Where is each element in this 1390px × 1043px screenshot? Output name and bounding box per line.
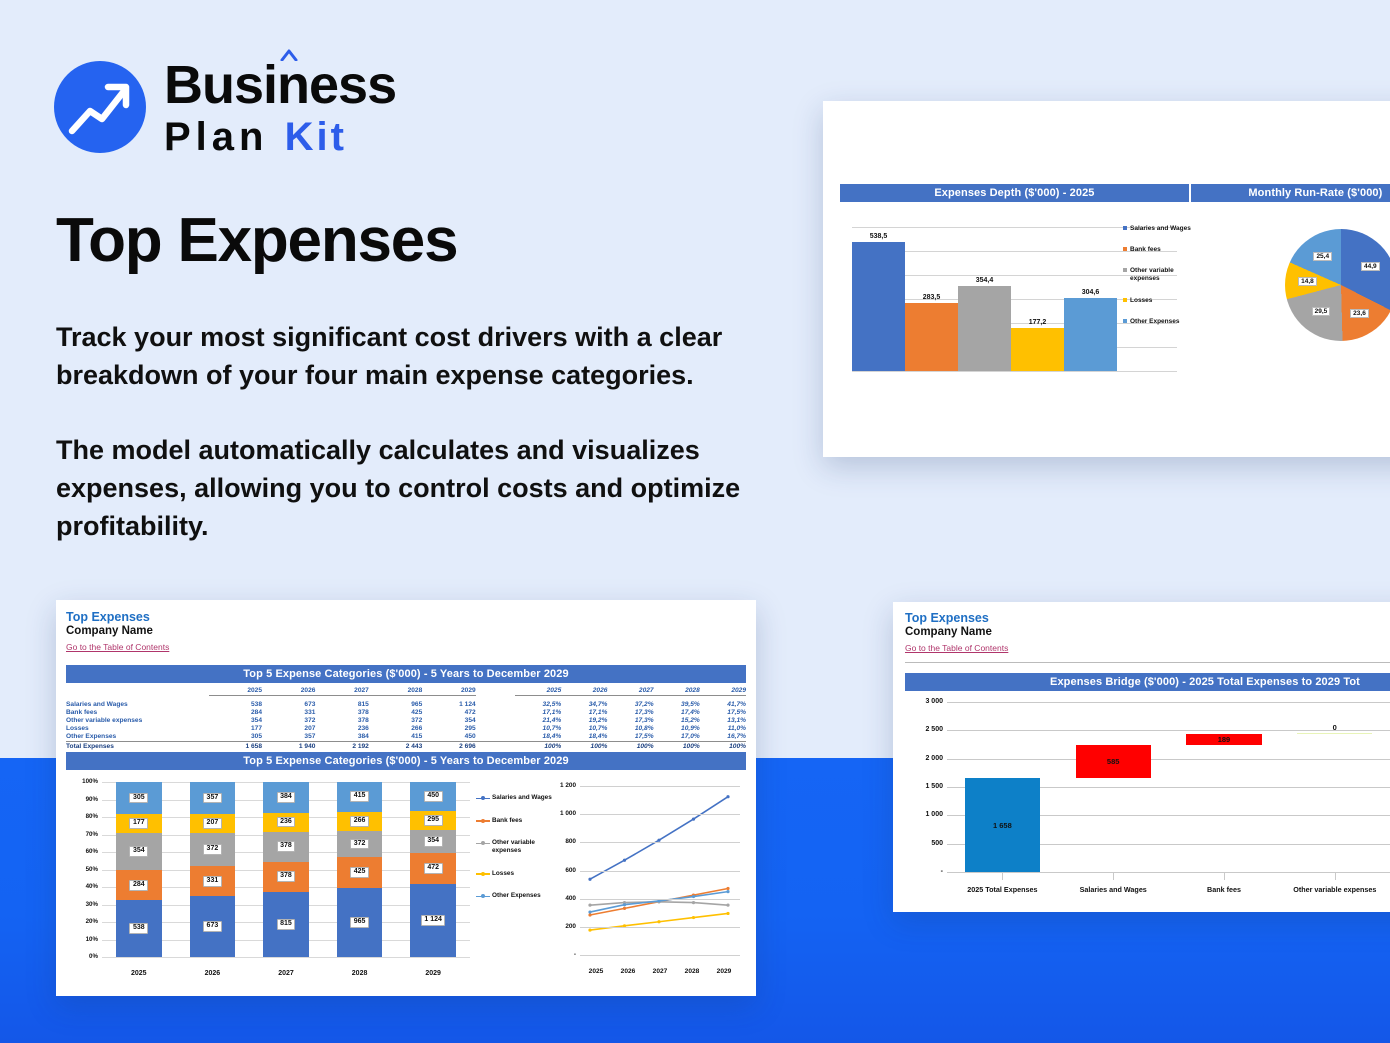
waterfall-bar: 1 658 xyxy=(965,778,1040,872)
stacked-column: 415266372425965 xyxy=(323,782,397,957)
stack-segment: 378 xyxy=(263,832,309,862)
cell-percent: 19,2% xyxy=(561,716,607,724)
x-tick-label: 2025 Total Expenses xyxy=(947,885,1058,894)
x-tick-label: 2027 xyxy=(644,968,676,975)
stacked-series: 3051773542845383572073723316733842363783… xyxy=(102,782,470,957)
expenses-depth-bar-chart: 538,5283,5354,4177,2304,6 Salaries and W… xyxy=(840,209,1195,381)
brand-kit-text: Kit xyxy=(285,115,347,159)
cell-percent: 11,0% xyxy=(700,725,746,733)
cell-value: 415 xyxy=(369,733,422,742)
segment-value-label: 378 xyxy=(277,871,296,882)
band-monthly-run-rate: Monthly Run-Rate ($'000) xyxy=(1191,184,1390,202)
legend-label: Other variable expenses xyxy=(1130,267,1195,283)
legend-item: Bank fees xyxy=(476,817,552,825)
bar-column: 177,2 xyxy=(1011,227,1064,371)
bar-value-label: 177,2 xyxy=(1011,319,1064,326)
year-header: 2029 xyxy=(422,686,475,695)
y-tick-label: 30% xyxy=(66,901,98,908)
cell-percent: 100% xyxy=(700,742,746,751)
sheet-title: Top Expenses xyxy=(66,610,169,624)
company-name: Company Name xyxy=(66,625,169,637)
stack-segment: 354 xyxy=(116,833,162,870)
segment-value-label: 305 xyxy=(129,793,148,804)
y-tick-label: 0% xyxy=(66,953,98,960)
y-tick-label: 500 xyxy=(905,840,943,847)
bar xyxy=(958,286,1011,371)
segment-value-label: 472 xyxy=(424,863,443,874)
legend-item: Other variable expenses xyxy=(476,839,552,854)
cell-value: 2 443 xyxy=(369,742,422,751)
stack-segment: 425 xyxy=(337,857,383,887)
hero-paragraph-1: Track your most significant cost drivers… xyxy=(56,318,746,395)
pie-value-label: 29,5 xyxy=(1312,307,1331,316)
y-tick-label: 60% xyxy=(66,848,98,855)
legend-swatch xyxy=(1123,247,1127,251)
y-tick-label: 100% xyxy=(66,778,98,785)
segment-value-label: 372 xyxy=(350,839,369,850)
y-tick-label: 50% xyxy=(66,866,98,873)
y-tick-label: 3 000 xyxy=(905,698,943,705)
bar-value-label: 538,5 xyxy=(852,233,905,240)
segment-value-label: 354 xyxy=(424,836,443,847)
stacked-column: 357207372331673 xyxy=(176,782,250,957)
y-tick-label: 80% xyxy=(66,813,98,820)
bar-series: 538,5283,5354,4177,2304,6 xyxy=(852,227,1117,371)
x-tick-label: 2029 xyxy=(396,970,470,977)
panel-b-header: Top Expenses Company Name Go to the Tabl… xyxy=(66,610,169,655)
y-tick-label: 20% xyxy=(66,918,98,925)
bar xyxy=(1011,328,1064,371)
waterfall-column: 585 xyxy=(1058,702,1169,872)
legend-item: Other variable expenses xyxy=(1123,267,1195,283)
stack-segment: 673 xyxy=(190,896,236,957)
cell-value: 472 xyxy=(422,708,475,716)
cell-percent: 100% xyxy=(607,742,653,751)
axis-tick xyxy=(1224,873,1225,880)
waterfall-bar: 189 xyxy=(1186,734,1261,745)
expense-categories-table: 2025202620272028202920252026202720282029… xyxy=(66,686,746,751)
legend-swatch xyxy=(1123,319,1127,323)
cell-percent: 10,9% xyxy=(654,725,700,733)
band-expenses-depth: Expenses Depth ($'000) - 2025 xyxy=(840,184,1189,202)
cell-value: 357 xyxy=(262,733,315,742)
cell-value: 2 192 xyxy=(315,742,368,751)
cell-value: 425 xyxy=(369,708,422,716)
year-header: 2025 xyxy=(515,686,561,695)
y-tick-label: 800 xyxy=(546,838,576,845)
y-tick-label: 1 200 xyxy=(546,782,576,789)
cell-percent: 100% xyxy=(654,742,700,751)
legend-item: Salaries and Wages xyxy=(1123,225,1195,233)
chart-legend: Salaries and WagesBank feesOther variabl… xyxy=(476,794,552,915)
segment-value-label: 295 xyxy=(424,815,443,826)
table-row: Other Expenses30535738441545018,4%18,4%1… xyxy=(66,733,746,742)
table-of-contents-link[interactable]: Go to the Table of Contents xyxy=(66,642,169,652)
segment-value-label: 378 xyxy=(277,841,296,852)
legend-label: Other variable expenses xyxy=(492,839,552,854)
segment-value-label: 357 xyxy=(203,793,222,804)
cell-value: 354 xyxy=(209,716,262,724)
legend-marker xyxy=(476,818,490,824)
chart-legend: Salaries and WagesBank feesOther variabl… xyxy=(1123,225,1195,339)
segment-value-label: 284 xyxy=(129,880,148,891)
table-row: Bank fees28433137842547217,1%17,1%17,3%1… xyxy=(66,708,746,716)
cell-value: 1 658 xyxy=(209,742,262,751)
stack-segment: 236 xyxy=(263,813,309,832)
cell-percent: 17,3% xyxy=(607,716,653,724)
x-tick-label: 2025 xyxy=(102,970,176,977)
row-label: Bank fees xyxy=(66,708,209,716)
stack-segment: 450 xyxy=(410,782,456,811)
stack-segment: 295 xyxy=(410,811,456,830)
band-top5-chart: Top 5 Expense Categories ($'000) - 5 Yea… xyxy=(66,752,746,770)
year-header: 2026 xyxy=(561,686,607,695)
y-tick-label: 600 xyxy=(546,867,576,874)
hero-description: Track your most significant cost drivers… xyxy=(56,318,746,546)
cell-percent: 10,7% xyxy=(561,725,607,733)
legend-item: Losses xyxy=(1123,297,1195,305)
legend-item: Losses xyxy=(476,870,552,878)
segment-value-label: 538 xyxy=(129,923,148,934)
y-tick-label: 2 500 xyxy=(905,726,943,733)
waterfall-column: 0 xyxy=(1279,702,1390,872)
row-label: Losses xyxy=(66,725,209,733)
segment-value-label: 331 xyxy=(203,876,222,887)
legend-label: Salaries and Wages xyxy=(1130,225,1191,233)
cell-value: 450 xyxy=(422,733,475,742)
cell-value: 354 xyxy=(422,716,475,724)
segment-value-label: 266 xyxy=(350,816,369,827)
y-tick-label: 1 500 xyxy=(905,783,943,790)
year-header: 2027 xyxy=(607,686,653,695)
band-top5-table: Top 5 Expense Categories ($'000) - 5 Yea… xyxy=(66,665,746,683)
cell-percent: 37,2% xyxy=(607,700,653,708)
panel-a-band-row: Expenses Depth ($'000) - 2025 Monthly Ru… xyxy=(840,184,1390,202)
waterfall-series: 1 6585851890118 xyxy=(947,702,1390,872)
y-tick-label: 90% xyxy=(66,796,98,803)
segment-value-label: 425 xyxy=(350,867,369,878)
y-tick-label: 10% xyxy=(66,936,98,943)
segment-value-label: 236 xyxy=(277,817,296,828)
cell-value: 177 xyxy=(209,725,262,733)
legend-label: Bank fees xyxy=(1130,246,1161,254)
stack-segment: 266 xyxy=(337,812,383,831)
x-tick-label: 2027 xyxy=(249,970,323,977)
segment-value-label: 815 xyxy=(277,919,296,930)
stack-segment: 965 xyxy=(337,888,383,957)
segment-value-label: 415 xyxy=(350,791,369,802)
segment-value-label: 354 xyxy=(129,846,148,857)
x-tick-label: Salaries and Wages xyxy=(1058,885,1169,894)
screenshot-panel-expenses-bridge[interactable]: Top Expenses Company Name Go to the Tabl… xyxy=(893,602,1390,912)
stack-segment: 354 xyxy=(410,830,456,853)
cell-value: 378 xyxy=(315,708,368,716)
bar-value-label: 585 xyxy=(1107,757,1120,766)
stack-segment: 331 xyxy=(190,866,236,896)
stack-segment: 372 xyxy=(337,831,383,858)
row-label: Total Expenses xyxy=(66,742,209,751)
legend-item: Bank fees xyxy=(1123,246,1195,254)
cell-percent: 18,4% xyxy=(515,733,561,742)
row-label: Other variable expenses xyxy=(66,716,209,724)
bar-value-label: 189 xyxy=(1218,735,1231,744)
bar-value-label: 354,4 xyxy=(958,277,1011,284)
cell-percent: 10,8% xyxy=(607,725,653,733)
divider xyxy=(905,662,1390,663)
year-header: 2027 xyxy=(315,686,368,695)
cell-percent: 39,5% xyxy=(654,700,700,708)
cell-percent: 13,1% xyxy=(700,716,746,724)
stack-segment: 357 xyxy=(190,782,236,814)
x-tick-label: 2026 xyxy=(176,970,250,977)
cell-percent: 17,4% xyxy=(654,708,700,716)
cell-value: 378 xyxy=(315,716,368,724)
x-tick-label: 2028 xyxy=(323,970,397,977)
stack-segment: 472 xyxy=(410,853,456,884)
segment-value-label: 207 xyxy=(203,818,222,829)
x-tick-label: 2025 xyxy=(580,968,612,975)
x-tick-label: 2028 xyxy=(676,968,708,975)
cell-percent: 41,7% xyxy=(700,700,746,708)
pie-slices: 44,923,629,514,825,4 xyxy=(1285,229,1390,341)
circumflex-icon xyxy=(280,49,298,61)
cell-percent: 17,1% xyxy=(515,708,561,716)
legend-item: Other Expenses xyxy=(1123,318,1195,326)
cell-value: 673 xyxy=(262,700,315,708)
trending-arrow-icon xyxy=(54,61,146,153)
cell-percent: 17,1% xyxy=(561,708,607,716)
cell-value: 815 xyxy=(315,700,368,708)
cell-percent: 18,4% xyxy=(561,733,607,742)
waterfall-bar: 585 xyxy=(1076,745,1151,778)
cell-percent: 17,0% xyxy=(654,733,700,742)
year-header: 2029 xyxy=(700,686,746,695)
legend-marker xyxy=(476,840,490,846)
segment-value-label: 1 124 xyxy=(421,915,446,926)
screenshot-panel-expenses-depth[interactable]: Expenses Depth ($'000) - 2025 Monthly Ru… xyxy=(823,101,1390,457)
year-header: 2026 xyxy=(262,686,315,695)
screenshot-panel-expense-categories[interactable]: Top Expenses Company Name Go to the Tabl… xyxy=(56,600,756,996)
bar-value-label: 304,6 xyxy=(1064,289,1117,296)
bar-column: 538,5 xyxy=(852,227,905,371)
legend-label: Salaries and Wages xyxy=(492,794,552,802)
legend-marker xyxy=(476,893,490,899)
hero-paragraph-2: The model automatically calculates and v… xyxy=(56,431,746,546)
stacked-bar-chart: 3051773542845383572073723316733842363783… xyxy=(66,776,476,981)
stack-segment: 372 xyxy=(190,833,236,867)
stack-segment: 177 xyxy=(116,814,162,833)
legend-label: Losses xyxy=(492,870,514,878)
legend-item: Salaries and Wages xyxy=(476,794,552,802)
stack-segment: 378 xyxy=(263,862,309,892)
pie-value-label: 44,9 xyxy=(1361,262,1380,271)
cell-percent: 100% xyxy=(561,742,607,751)
bar xyxy=(1064,298,1117,371)
stacked-column: 4502953544721 124 xyxy=(396,782,470,957)
stack-segment: 305 xyxy=(116,782,162,814)
x-tick-label: Bank fees xyxy=(1169,885,1280,894)
legend-label: Other Expenses xyxy=(492,892,541,900)
cell-value: 305 xyxy=(209,733,262,742)
cell-percent: 32,5% xyxy=(515,700,561,708)
waterfall-bar: 0 xyxy=(1297,733,1372,734)
cell-value: 2 696 xyxy=(422,742,475,751)
bar-column: 304,6 xyxy=(1064,227,1117,371)
year-header: 2025 xyxy=(209,686,262,695)
cell-value: 331 xyxy=(262,708,315,716)
cell-value: 965 xyxy=(369,700,422,708)
pie-value-label: 14,8 xyxy=(1298,277,1317,286)
legend-marker xyxy=(476,871,490,877)
y-tick-label: 1 000 xyxy=(546,810,576,817)
expenses-bridge-waterfall-chart: 1 6585851890118 3 0002 5002 0001 5001 00… xyxy=(905,698,1390,898)
axis-tick xyxy=(1113,873,1114,880)
company-name: Company Name xyxy=(905,626,1008,638)
cell-value: 538 xyxy=(209,700,262,708)
stacked-column: 384236378378815 xyxy=(249,782,323,957)
x-axis-labels: 2025 Total ExpensesSalaries and WagesBan… xyxy=(947,885,1390,894)
table-row: Salaries and Wages5386738159651 12432,5%… xyxy=(66,700,746,708)
cell-percent: 17,3% xyxy=(607,708,653,716)
y-tick-label: 70% xyxy=(66,831,98,838)
legend-swatch xyxy=(1123,226,1127,230)
cell-percent: 15,2% xyxy=(654,716,700,724)
band-expenses-bridge: Expenses Bridge ($'000) - 2025 Total Exp… xyxy=(905,673,1390,691)
segment-value-label: 673 xyxy=(203,921,222,932)
bar-value-label: 283,5 xyxy=(905,294,958,301)
cell-percent: 16,7% xyxy=(700,733,746,742)
bar-column: 354,4 xyxy=(958,227,1011,371)
cell-value: 284 xyxy=(209,708,262,716)
cell-percent: 21,4% xyxy=(515,716,561,724)
cell-percent: 100% xyxy=(515,742,561,751)
x-tick-label: Other variable expenses xyxy=(1279,885,1390,894)
x-axis-labels: 20252026202720282029 xyxy=(580,968,740,975)
cell-percent: 17,5% xyxy=(607,733,653,742)
cell-value: 372 xyxy=(262,716,315,724)
waterfall-column: 189 xyxy=(1169,702,1280,872)
bar xyxy=(905,303,958,371)
legend-label: Other Expenses xyxy=(1130,318,1180,326)
cell-percent: 34,7% xyxy=(561,700,607,708)
y-tick-label: 2 000 xyxy=(905,755,943,762)
year-header: 2028 xyxy=(369,686,422,695)
y-tick-label: 40% xyxy=(66,883,98,890)
bar-value-label: 0 xyxy=(1333,723,1337,732)
stack-segment: 207 xyxy=(190,814,236,833)
stack-segment: 384 xyxy=(263,782,309,813)
legend-swatch xyxy=(1123,298,1127,302)
legend-label: Bank fees xyxy=(492,817,522,825)
pie-value-label: 23,6 xyxy=(1350,309,1369,318)
year-header: 2028 xyxy=(654,686,700,695)
segment-value-label: 372 xyxy=(203,844,222,855)
y-tick-label: 400 xyxy=(546,895,576,902)
legend-item: Other Expenses xyxy=(476,892,552,900)
sheet-title: Top Expenses xyxy=(905,611,1008,625)
brand-logo: Business Plan Kit xyxy=(54,56,396,157)
bar-value-label: 1 658 xyxy=(993,821,1012,830)
cell-value: 384 xyxy=(315,733,368,742)
stacked-column: 305177354284538 xyxy=(102,782,176,957)
y-tick-label: 1 000 xyxy=(905,811,943,818)
cell-value: 266 xyxy=(369,725,422,733)
panel-c-header: Top Expenses Company Name Go to the Tabl… xyxy=(905,611,1008,656)
y-tick-label: - xyxy=(905,868,943,875)
legend-marker xyxy=(476,795,490,801)
cell-value: 1 940 xyxy=(262,742,315,751)
stack-segment: 284 xyxy=(116,870,162,900)
brand-name-text: Business xyxy=(164,55,396,115)
table-row: Losses17720723626629510,7%10,7%10,8%10,9… xyxy=(66,725,746,733)
bar-column: 283,5 xyxy=(905,227,958,371)
bar xyxy=(852,242,905,371)
axis-tick xyxy=(1002,873,1003,880)
stack-segment: 815 xyxy=(263,892,309,957)
expense-trend-line-chart: Salaries and WagesBank feesOther variabl… xyxy=(476,776,746,981)
table-row: Other variable expenses35437237837235421… xyxy=(66,716,746,724)
x-tick-label: 2026 xyxy=(612,968,644,975)
segment-value-label: 384 xyxy=(277,792,296,803)
cell-percent: 17,5% xyxy=(700,708,746,716)
cell-value: 295 xyxy=(422,725,475,733)
axis-tick xyxy=(1335,873,1336,880)
stack-segment: 415 xyxy=(337,782,383,812)
waterfall-column: 1 658 xyxy=(947,702,1058,872)
brand-plan-text: Plan xyxy=(164,115,268,159)
cell-value: 236 xyxy=(315,725,368,733)
cell-value: 372 xyxy=(369,716,422,724)
page-title: Top Expenses xyxy=(56,205,457,276)
pie-value-label: 25,4 xyxy=(1313,252,1332,261)
segment-value-label: 965 xyxy=(350,917,369,928)
row-label: Other Expenses xyxy=(66,733,209,742)
stack-segment: 1 124 xyxy=(410,884,456,957)
x-axis-labels: 20252026202720282029 xyxy=(102,970,470,977)
brand-name-line1: Business xyxy=(164,58,396,112)
segment-value-label: 450 xyxy=(424,791,443,802)
cell-value: 207 xyxy=(262,725,315,733)
table-total-row: Total Expenses1 6581 9402 1922 4432 6961… xyxy=(66,742,746,751)
cell-percent: 10,7% xyxy=(515,725,561,733)
segment-value-label: 177 xyxy=(129,818,148,829)
row-label: Salaries and Wages xyxy=(66,700,209,708)
x-tick-label: 2029 xyxy=(708,968,740,975)
legend-label: Losses xyxy=(1130,297,1152,305)
cell-value: 1 124 xyxy=(422,700,475,708)
stack-segment: 538 xyxy=(116,900,162,957)
y-tick-label: - xyxy=(546,951,576,958)
brand-name-line2: Plan Kit xyxy=(164,117,396,157)
table-of-contents-link[interactable]: Go to the Table of Contents xyxy=(905,643,1008,653)
monthly-run-rate-pie-chart: 44,923,629,514,825,4 xyxy=(1285,229,1390,341)
legend-swatch xyxy=(1123,268,1127,272)
y-tick-label: 200 xyxy=(546,923,576,930)
